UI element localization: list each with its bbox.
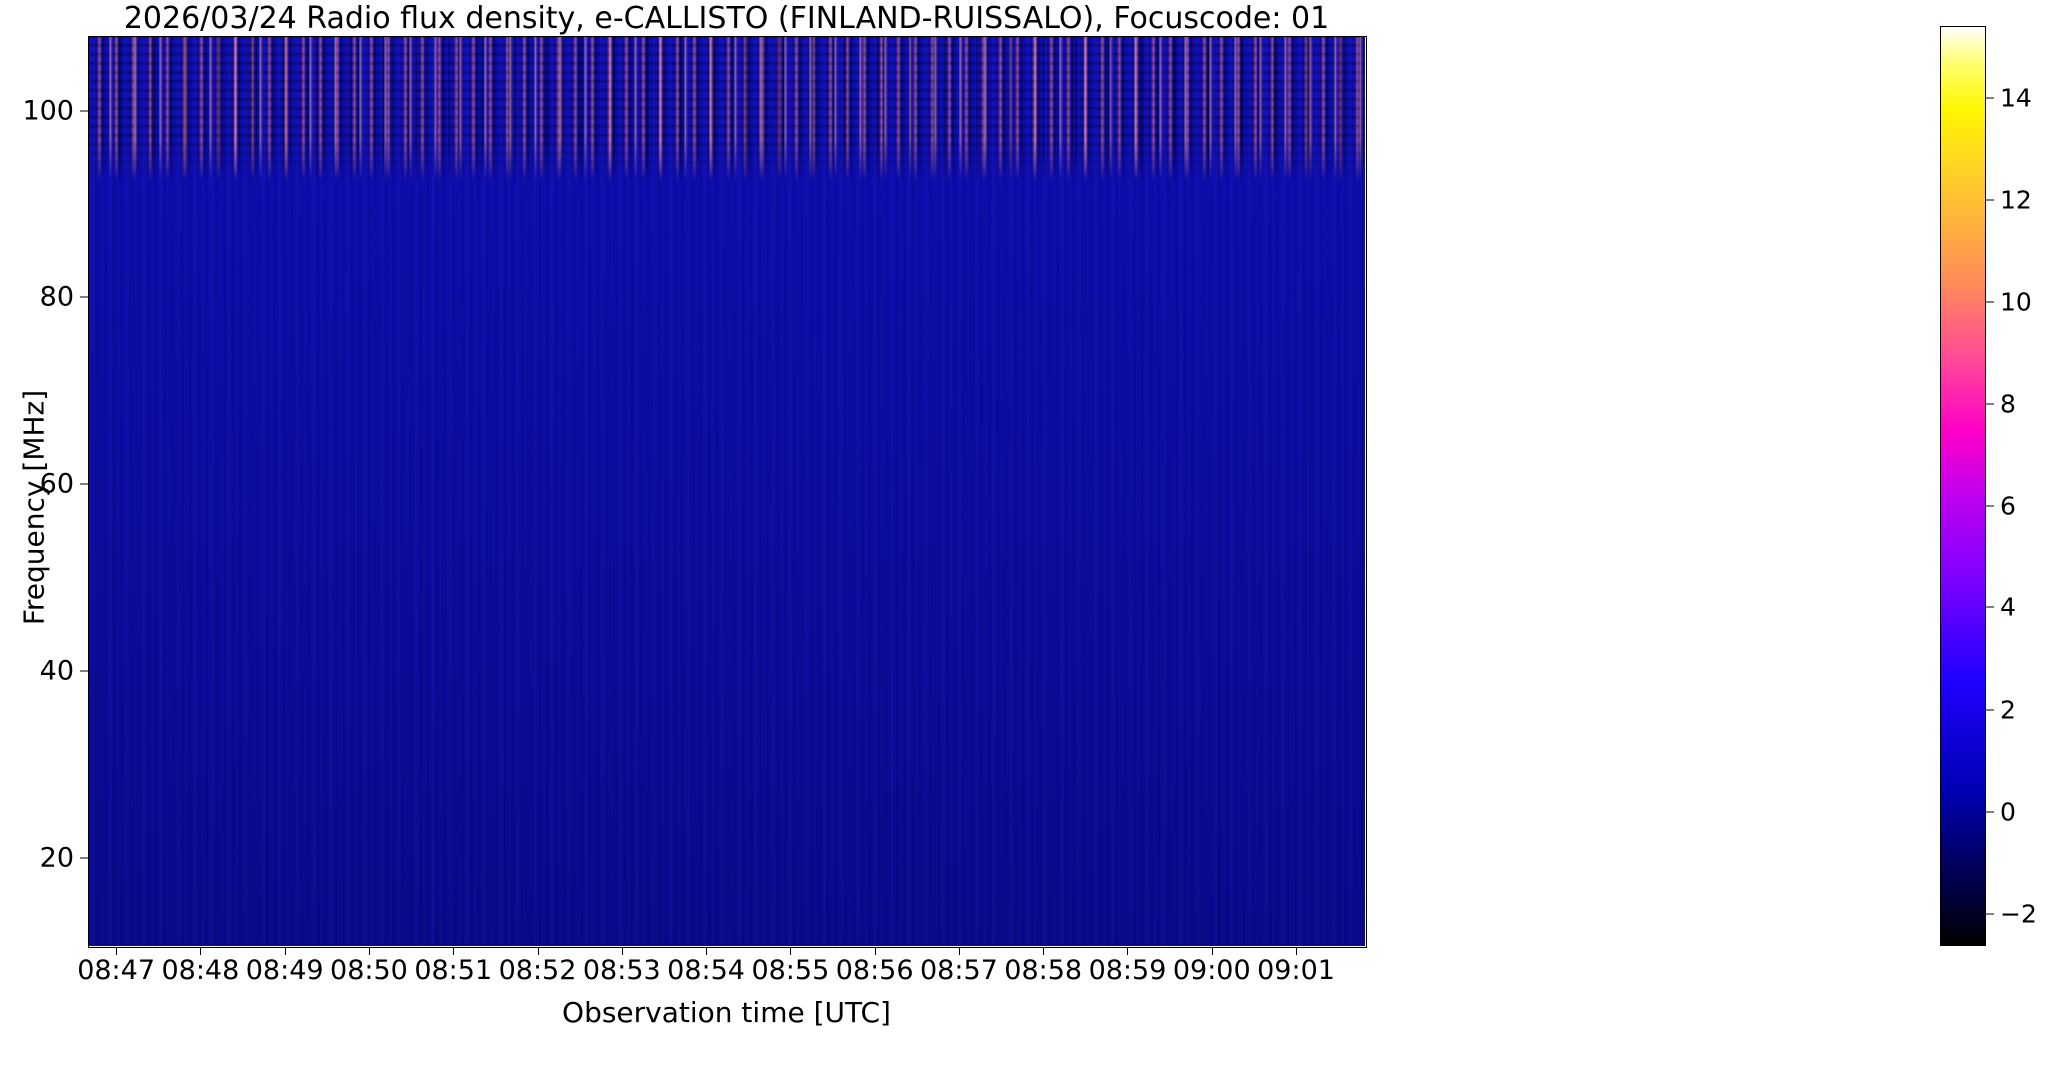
colorbar-tick-label: 6 [2000,492,2016,521]
colorbar-tick-label: 2 [2000,695,2016,724]
colorbar-tick-label: 8 [2000,390,2016,419]
colorbar-tick-label: 10 [2000,288,2032,317]
colorbar-tick-mark [1986,97,1994,98]
colorbar-tick-mark [1986,607,1994,608]
colorbar-tick-mark [1986,199,1994,200]
colorbar-tick-label: 0 [2000,797,2016,826]
colorbar-tick-label: 12 [2000,185,2032,214]
colorbar-ticks: 14121086420−2 [0,0,2066,1067]
colorbar-tick-mark [1986,709,1994,710]
colorbar-tick-label: −2 [2000,899,2037,928]
colorbar-tick-mark [1986,811,1994,812]
colorbar-tick-mark [1986,913,1994,914]
colorbar-tick-mark [1986,302,1994,303]
colorbar-tick-mark [1986,404,1994,405]
colorbar-tick-label: 14 [2000,83,2032,112]
colorbar-tick-label: 4 [2000,593,2016,622]
spectrogram-figure: 2026/03/24 Radio flux density, e-CALLIST… [0,0,2066,1067]
colorbar-tick-mark [1986,506,1994,507]
